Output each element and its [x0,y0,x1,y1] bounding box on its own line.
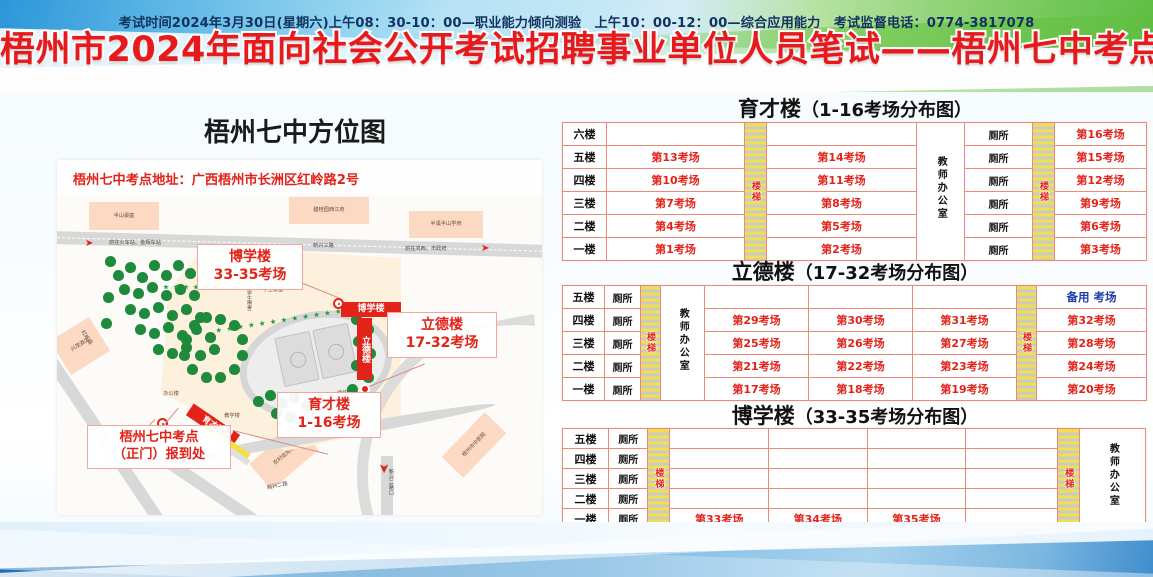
table-title-main: 博学楼 [732,404,795,428]
cell-room-3 [867,489,966,509]
cell-floor: 二楼 [563,355,605,378]
callout-gate: 梧州七中考点 （正门）报到处 [87,425,231,469]
cell-floor: 一楼 [563,378,605,401]
cell-floor: 三楼 [563,469,609,489]
cell-room-c: 第15考场 [1055,146,1147,169]
cell-room-4 [966,489,1058,509]
callout-lide: 立德楼 17-32考场 [387,312,497,358]
office-label: 教师办公室 [1105,443,1121,508]
callout-boxue: 博学楼 33-35考场 [197,244,303,290]
cell-room-b: 第5考场 [767,215,917,238]
cell-toilet: 厕所 [605,286,641,309]
stair-label: 楼梯 [1037,181,1050,203]
cell-stair-right: 楼梯 [1033,123,1055,261]
road-label: 新兴三路 [313,242,334,249]
cell-room-c: 第6考场 [1055,215,1147,238]
cell-room-3 [867,449,966,469]
map-panel: 梧州七中考点地址：广西梧州市长洲区红岭路2号 半山豪庭 碧桂园西江府 半溪半山学… [57,160,542,515]
block-label: 半山豪庭 [89,212,159,219]
cell-room-2: 第18考场 [809,378,913,401]
cell-room-2 [768,449,867,469]
table-title-sub: （17-32考场分布图） [795,263,979,284]
cell-stair-right: 楼梯 [1017,286,1037,401]
office-label: 教师办公室 [933,156,949,221]
cell-office: 教师办公室 [1080,429,1146,529]
cell-room-1 [670,449,769,469]
cell-room-3: 第31考场 [913,309,1017,332]
direction-arrow-left-icon: ➤ [85,239,93,249]
cell-room-1 [705,286,809,309]
direction-arrow-right-icon: ➤ [481,244,489,254]
cell-toilet: 厕所 [605,332,641,355]
cell-room-1: 第29考场 [705,309,809,332]
cell-room-1: 第25考场 [705,332,809,355]
road-label: 前往火车站、金辉车站 [109,239,161,246]
table-row: 五楼 厕所 楼梯 楼梯 教师办公室 [563,429,1146,449]
cell-stair-left: 楼梯 [745,123,767,261]
cell-room-1: 第21考场 [705,355,809,378]
cell-room-4: 第28考场 [1037,332,1147,355]
cell-stair-right: 楼梯 [1058,429,1080,529]
cell-room-a: 第4考场 [607,215,745,238]
callout-line1: 立德楼 [395,317,489,335]
cell-room-3 [913,286,1017,309]
cell-room-a: 第7考场 [607,192,745,215]
cell-room-1 [670,489,769,509]
table-row: 三楼 第7考场 第8考场 厕所 第9考场 [563,192,1147,215]
stair-label: 楼梯 [749,181,762,203]
cell-room-4: 第32考场 [1037,309,1147,332]
map-pin-boxue [333,298,344,309]
road-label: 前往鸿西、市政府 [405,245,447,252]
cell-toilet: 厕所 [609,469,648,489]
cell-room-4 [966,469,1058,489]
table-yucai: 六楼 楼梯 教师办公室 厕所 楼梯 第16考场 五楼 第13考场 第14考场 厕… [562,122,1147,261]
cell-floor: 三楼 [563,332,605,355]
cell-room-1 [670,429,769,449]
cell-room-c: 第12考场 [1055,169,1147,192]
cell-room-b: 第8考场 [767,192,917,215]
cell-room-a [607,123,745,146]
cell-room-a: 第10考场 [607,169,745,192]
table-title-yucai: 育才楼（1-16考场分布图） [560,93,1150,123]
table-title-sub: （33-35考场分布图） [795,407,979,428]
table-boxue: 五楼 厕所 楼梯 楼梯 教师办公室 四楼 厕所 三楼 厕所 [562,428,1146,529]
cell-room-4: 第24考场 [1037,355,1147,378]
campus-label: 教学楼 [213,412,251,419]
table-row: 五楼 厕所 楼梯 教师办公室 楼梯 备用 考场 [563,286,1147,309]
table-title-main: 立德楼 [732,260,795,284]
footer-banner [0,522,1153,577]
cell-toilet: 厕所 [965,215,1033,238]
cell-room-1 [670,469,769,489]
block-label: 半溪半山学府 [409,220,483,227]
cell-floor: 三楼 [563,192,607,215]
table-row: 二楼 第4考场 第5考场 厕所 第6考场 [563,215,1147,238]
callout-line2: 17-32考场 [395,335,489,353]
callout-line1: 梧州七中考点 [95,430,223,447]
cell-floor: 四楼 [563,309,605,332]
cell-floor: 五楼 [563,429,609,449]
cell-floor: 四楼 [563,169,607,192]
table-row: 六楼 楼梯 教师办公室 厕所 楼梯 第16考场 [563,123,1147,146]
stair-label: 楼梯 [1062,468,1075,490]
callout-line2: 33-35考场 [205,267,295,285]
cell-room-4: 第20考场 [1037,378,1147,401]
cell-room-2 [768,469,867,489]
cell-spare-room: 备用 考场 [1037,286,1147,309]
table-row: 四楼 第10考场 第11考场 厕所 第12考场 [563,169,1147,192]
cell-room-b [767,123,917,146]
callout-line2: （正门）报到处 [95,447,223,464]
cell-toilet: 厕所 [605,378,641,401]
cell-office: 教师办公室 [917,123,965,261]
table-row: 五楼 第13考场 第14考场 厕所 第15考场 [563,146,1147,169]
cell-toilet: 厕所 [609,449,648,469]
cell-room-3 [867,469,966,489]
cell-floor: 二楼 [563,215,607,238]
callout-line2: 1-16考场 [285,415,373,433]
cell-toilet: 厕所 [965,192,1033,215]
cell-toilet: 厕所 [605,309,641,332]
cell-room-c: 第16考场 [1055,123,1147,146]
callout-line1: 博学楼 [205,249,295,267]
cell-floor: 五楼 [563,286,605,309]
cell-room-c: 第9考场 [1055,192,1147,215]
cell-floor: 六楼 [563,123,607,146]
cell-toilet: 厕所 [605,355,641,378]
office-label: 教师办公室 [675,308,691,373]
cell-room-2 [809,286,913,309]
building-strip-lide: 立德楼 [357,318,372,380]
callout-yucai: 育才楼 1-16考场 [277,392,381,438]
cell-room-1: 第17考场 [705,378,809,401]
cell-room-4 [966,429,1058,449]
campus-label: 学生宿舍 [213,290,253,311]
cell-room-3: 第19考场 [913,378,1017,401]
cell-floor: 四楼 [563,449,609,469]
poster-root: 梧州市2024年面向社会公开考试招聘事业单位人员笔试——梧州七中考点 梧州七中方… [0,0,1153,577]
court-circle [327,342,346,361]
block-label: 碧桂园西江府 [289,206,369,213]
map-address: 梧州七中考点地址：广西梧州市长洲区红岭路2号 [73,169,359,188]
cell-stair-left: 楼梯 [641,286,661,401]
map-section-title: 梧州七中方位图 [60,112,530,149]
callout-line1: 育才楼 [285,397,373,415]
cell-room-2 [768,429,867,449]
cell-room-3 [867,429,966,449]
cell-toilet: 厕所 [965,169,1033,192]
table-title-main: 育才楼 [738,97,801,121]
cell-room-2: 第26考场 [809,332,913,355]
cell-room-a: 第13考场 [607,146,745,169]
stair-label: 楼梯 [1020,332,1033,354]
cell-toilet: 厕所 [609,429,648,449]
cell-room-b: 第11考场 [767,169,917,192]
cell-toilet: 厕所 [965,146,1033,169]
stair-label: 楼梯 [652,468,665,490]
table-title-boxue: 博学楼（33-35考场分布图） [560,400,1150,430]
cell-toilet: 厕所 [965,123,1033,146]
cell-room-3: 第27考场 [913,332,1017,355]
table-lide: 五楼 厕所 楼梯 教师办公室 楼梯 备用 考场 四楼 厕所 第29考场 第30考… [562,285,1147,401]
cell-stair-left: 楼梯 [648,429,670,529]
stair-label: 楼梯 [644,332,657,354]
cell-room-2: 第22考场 [809,355,913,378]
table-title-sub: （1-16考场分布图） [801,100,972,121]
court-circle [289,350,308,369]
exam-schedule-text: 考试时间2024年3月30日(星期六)上午08：30-10：00—职业能力倾向测… [0,12,1153,31]
cell-room-3: 第23考场 [913,355,1017,378]
cell-room-2: 第30考场 [809,309,913,332]
cell-toilet: 厕所 [609,489,648,509]
table-title-lide: 立德楼（17-32考场分布图） [560,256,1150,286]
cell-room-4 [966,449,1058,469]
cell-room-b: 第14考场 [767,146,917,169]
cell-floor: 二楼 [563,489,609,509]
cell-floor: 五楼 [563,146,607,169]
cell-office: 教师办公室 [661,286,705,401]
cell-room-2 [768,489,867,509]
campus-label: 办公楼 [153,390,189,397]
